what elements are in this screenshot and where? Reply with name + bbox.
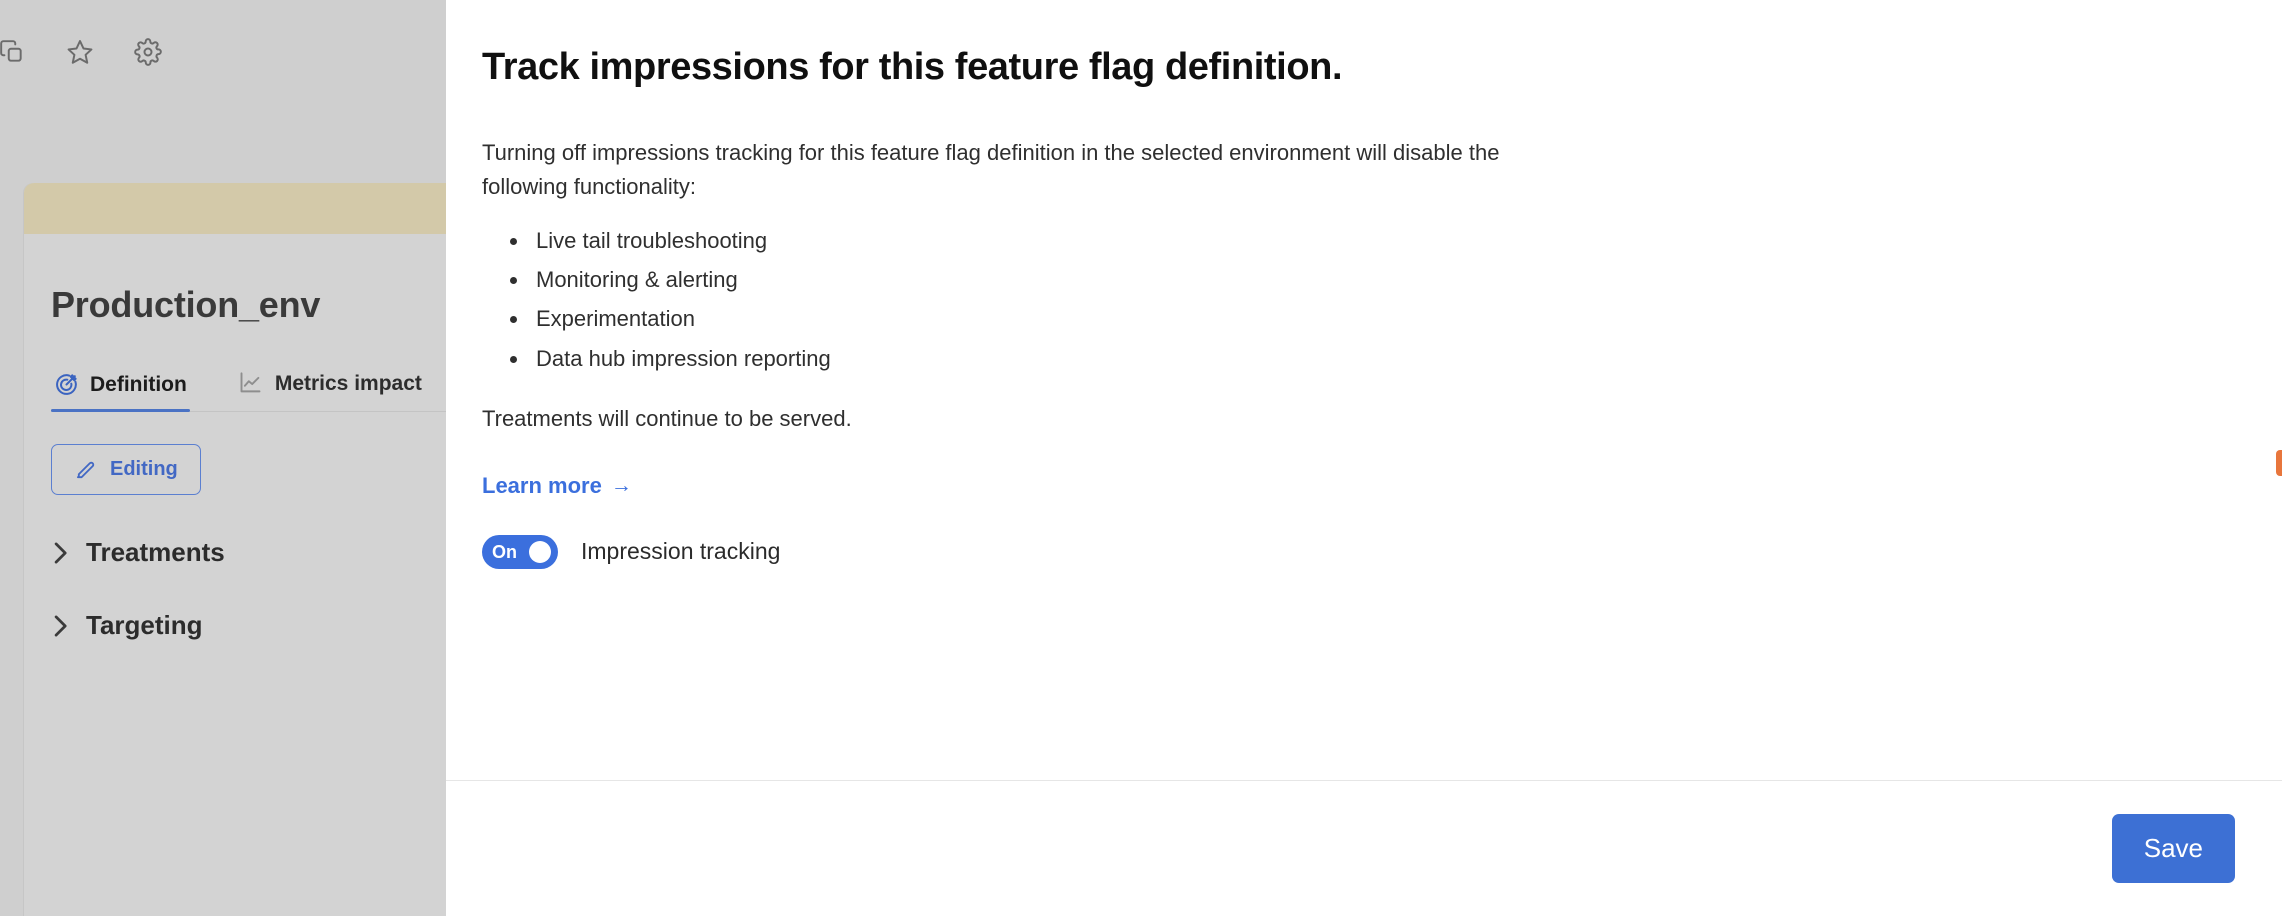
modal-note-text: Treatments will continue to be served. [482, 404, 2232, 435]
tab-metrics-impact[interactable]: Metrics impact [234, 370, 425, 411]
screen: Production_env Definition [0, 0, 2282, 916]
impression-tracking-modal: Track impressions for this feature flag … [446, 0, 2282, 916]
list-item: Live tail troubleshooting [510, 226, 2232, 256]
modal-intro-text: Turning off impressions tracking for thi… [482, 136, 1547, 204]
impression-tracking-row: On Impression tracking [482, 535, 2232, 569]
toggle-state-label: On [492, 543, 517, 561]
chevron-right-icon [51, 540, 69, 566]
pencil-icon [74, 458, 97, 481]
copy-icon[interactable] [0, 30, 34, 74]
line-chart-icon [237, 370, 264, 397]
arrow-right-icon: → [611, 474, 632, 498]
section-treatments-label: Treatments [86, 537, 225, 568]
learn-more-label: Learn more [482, 473, 602, 499]
toggle-knob [529, 541, 551, 563]
modal-title: Track impressions for this feature flag … [482, 44, 2232, 92]
impression-tracking-label: Impression tracking [581, 538, 780, 565]
save-button[interactable]: Save [2112, 814, 2235, 883]
modal-body: Track impressions for this feature flag … [446, 0, 2282, 780]
tab-definition-label: Definition [90, 373, 187, 397]
editing-button[interactable]: Editing [51, 444, 201, 495]
modal-footer: Save [446, 780, 2282, 916]
edge-notification-tab[interactable] [2276, 450, 2282, 476]
list-item: Experimentation [510, 304, 2232, 334]
page-toolbar [0, 30, 170, 74]
gear-icon[interactable] [126, 30, 170, 74]
tab-metrics-impact-label: Metrics impact [275, 372, 422, 396]
list-item: Data hub impression reporting [510, 344, 2232, 374]
chevron-right-icon [51, 613, 69, 639]
target-pencil-icon [54, 372, 79, 397]
learn-more-link[interactable]: Learn more → [482, 473, 632, 499]
list-item: Monitoring & alerting [510, 265, 2232, 295]
star-icon[interactable] [58, 30, 102, 74]
tab-definition[interactable]: Definition [51, 372, 190, 411]
impression-tracking-toggle[interactable]: On [482, 535, 558, 569]
editing-button-label: Editing [110, 458, 178, 481]
disabled-features-list: Live tail troubleshooting Monitoring & a… [482, 226, 2232, 374]
section-targeting-label: Targeting [86, 610, 203, 641]
